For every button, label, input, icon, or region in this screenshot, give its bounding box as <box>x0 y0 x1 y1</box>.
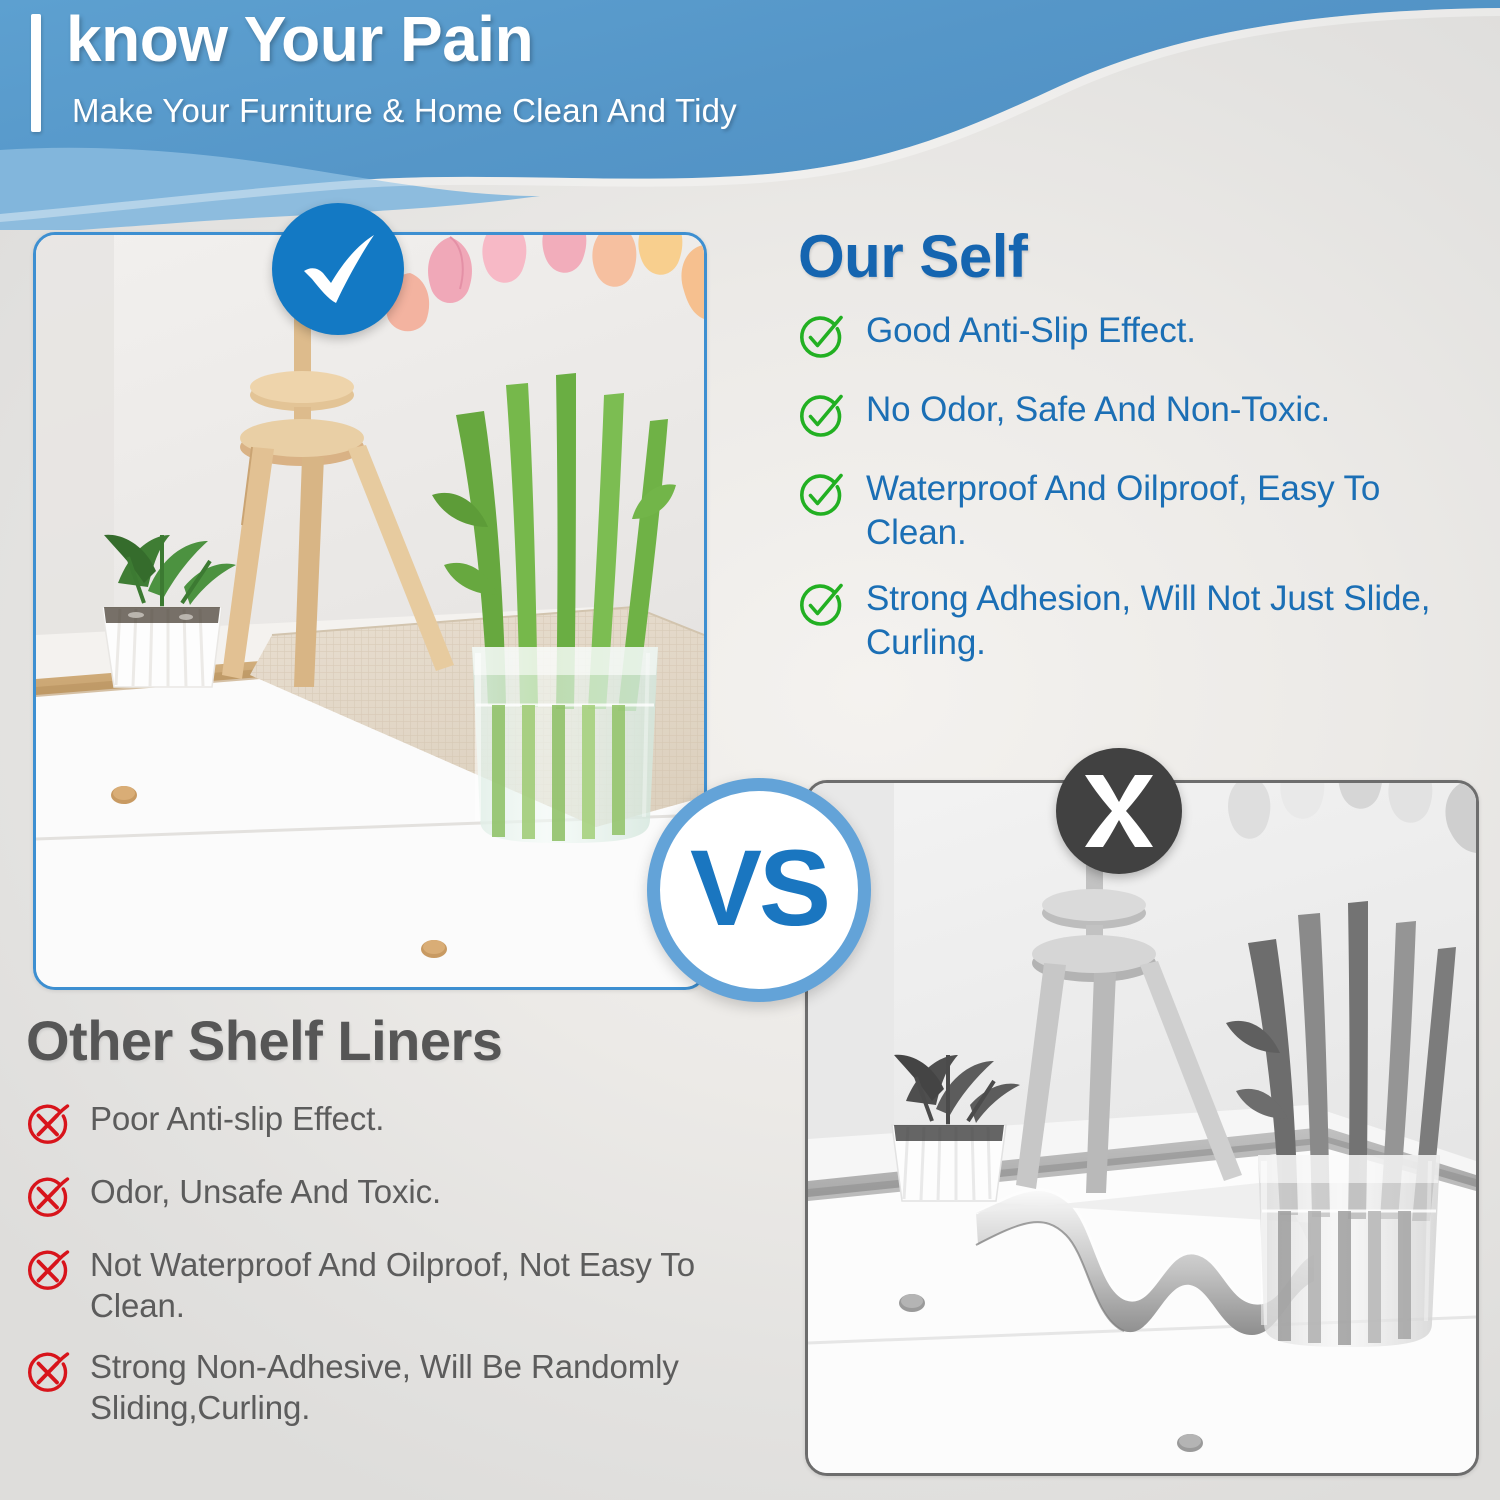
other-liners-heading: Other Shelf Liners <box>26 1008 726 1073</box>
our-self-section: Our Self Good Anti-Slip Effect. <box>798 222 1488 687</box>
banner-text-block: know Your Pain Make Your Furniture & Hom… <box>0 0 1020 160</box>
banner-subtitle: Make Your Furniture & Home Clean And Tid… <box>72 92 737 130</box>
circle-check-icon <box>798 583 844 634</box>
list-item-text: Not Waterproof And Oilproof, Not Easy To… <box>90 1245 726 1327</box>
circle-cross-icon <box>26 1249 70 1298</box>
photo-bad-shelf-liner <box>805 780 1479 1476</box>
list-item: Poor Anti-slip Effect. <box>26 1099 726 1152</box>
photo-good-shelf-liner <box>33 232 707 990</box>
list-item: No Odor, Safe And Non-Toxic. <box>798 388 1488 445</box>
vs-label: VS <box>690 834 828 942</box>
circle-check-icon <box>798 394 844 445</box>
list-item-text: Waterproof And Oilproof, Easy To Clean. <box>866 467 1488 555</box>
list-item-text: Poor Anti-slip Effect. <box>90 1099 384 1140</box>
list-item-text: Odor, Unsafe And Toxic. <box>90 1172 441 1213</box>
banner-swoosh <box>0 148 540 230</box>
other-liners-list: Poor Anti-slip Effect. Odor, Unsafe And … <box>26 1099 726 1429</box>
other-liners-section: Other Shelf Liners Poor Anti-slip Effect… <box>26 1008 726 1449</box>
circle-cross-icon <box>26 1103 70 1152</box>
list-item: Strong Adhesion, Will Not Just Slide, Cu… <box>798 577 1488 665</box>
list-item-text: Good Anti-Slip Effect. <box>866 309 1196 353</box>
list-item: Odor, Unsafe And Toxic. <box>26 1172 726 1225</box>
our-self-list: Good Anti-Slip Effect. No Odor, Safe And… <box>798 309 1488 665</box>
checkmark-icon <box>292 223 384 315</box>
banner-title: know Your Pain <box>66 6 533 73</box>
circle-cross-icon <box>26 1176 70 1225</box>
our-self-heading: Our Self <box>798 222 1488 291</box>
list-item: Strong Non-Adhesive, Will Be Randomly Sl… <box>26 1347 726 1429</box>
check-badge <box>272 203 404 335</box>
list-item: Not Waterproof And Oilproof, Not Easy To… <box>26 1245 726 1327</box>
list-item-text: Strong Adhesion, Will Not Just Slide, Cu… <box>866 577 1488 665</box>
cross-icon <box>1077 769 1161 853</box>
list-item-text: No Odor, Safe And Non-Toxic. <box>866 388 1330 432</box>
list-item: Good Anti-Slip Effect. <box>798 309 1488 366</box>
cross-badge <box>1056 748 1182 874</box>
banner-accent-bar <box>31 14 41 132</box>
vs-badge: VS <box>647 778 871 1002</box>
circle-cross-icon <box>26 1351 70 1400</box>
circle-check-icon <box>798 473 844 524</box>
comparison-infographic: know Your Pain Make Your Furniture & Hom… <box>0 0 1500 1500</box>
list-item: Waterproof And Oilproof, Easy To Clean. <box>798 467 1488 555</box>
circle-check-icon <box>798 315 844 366</box>
list-item-text: Strong Non-Adhesive, Will Be Randomly Sl… <box>90 1347 726 1429</box>
